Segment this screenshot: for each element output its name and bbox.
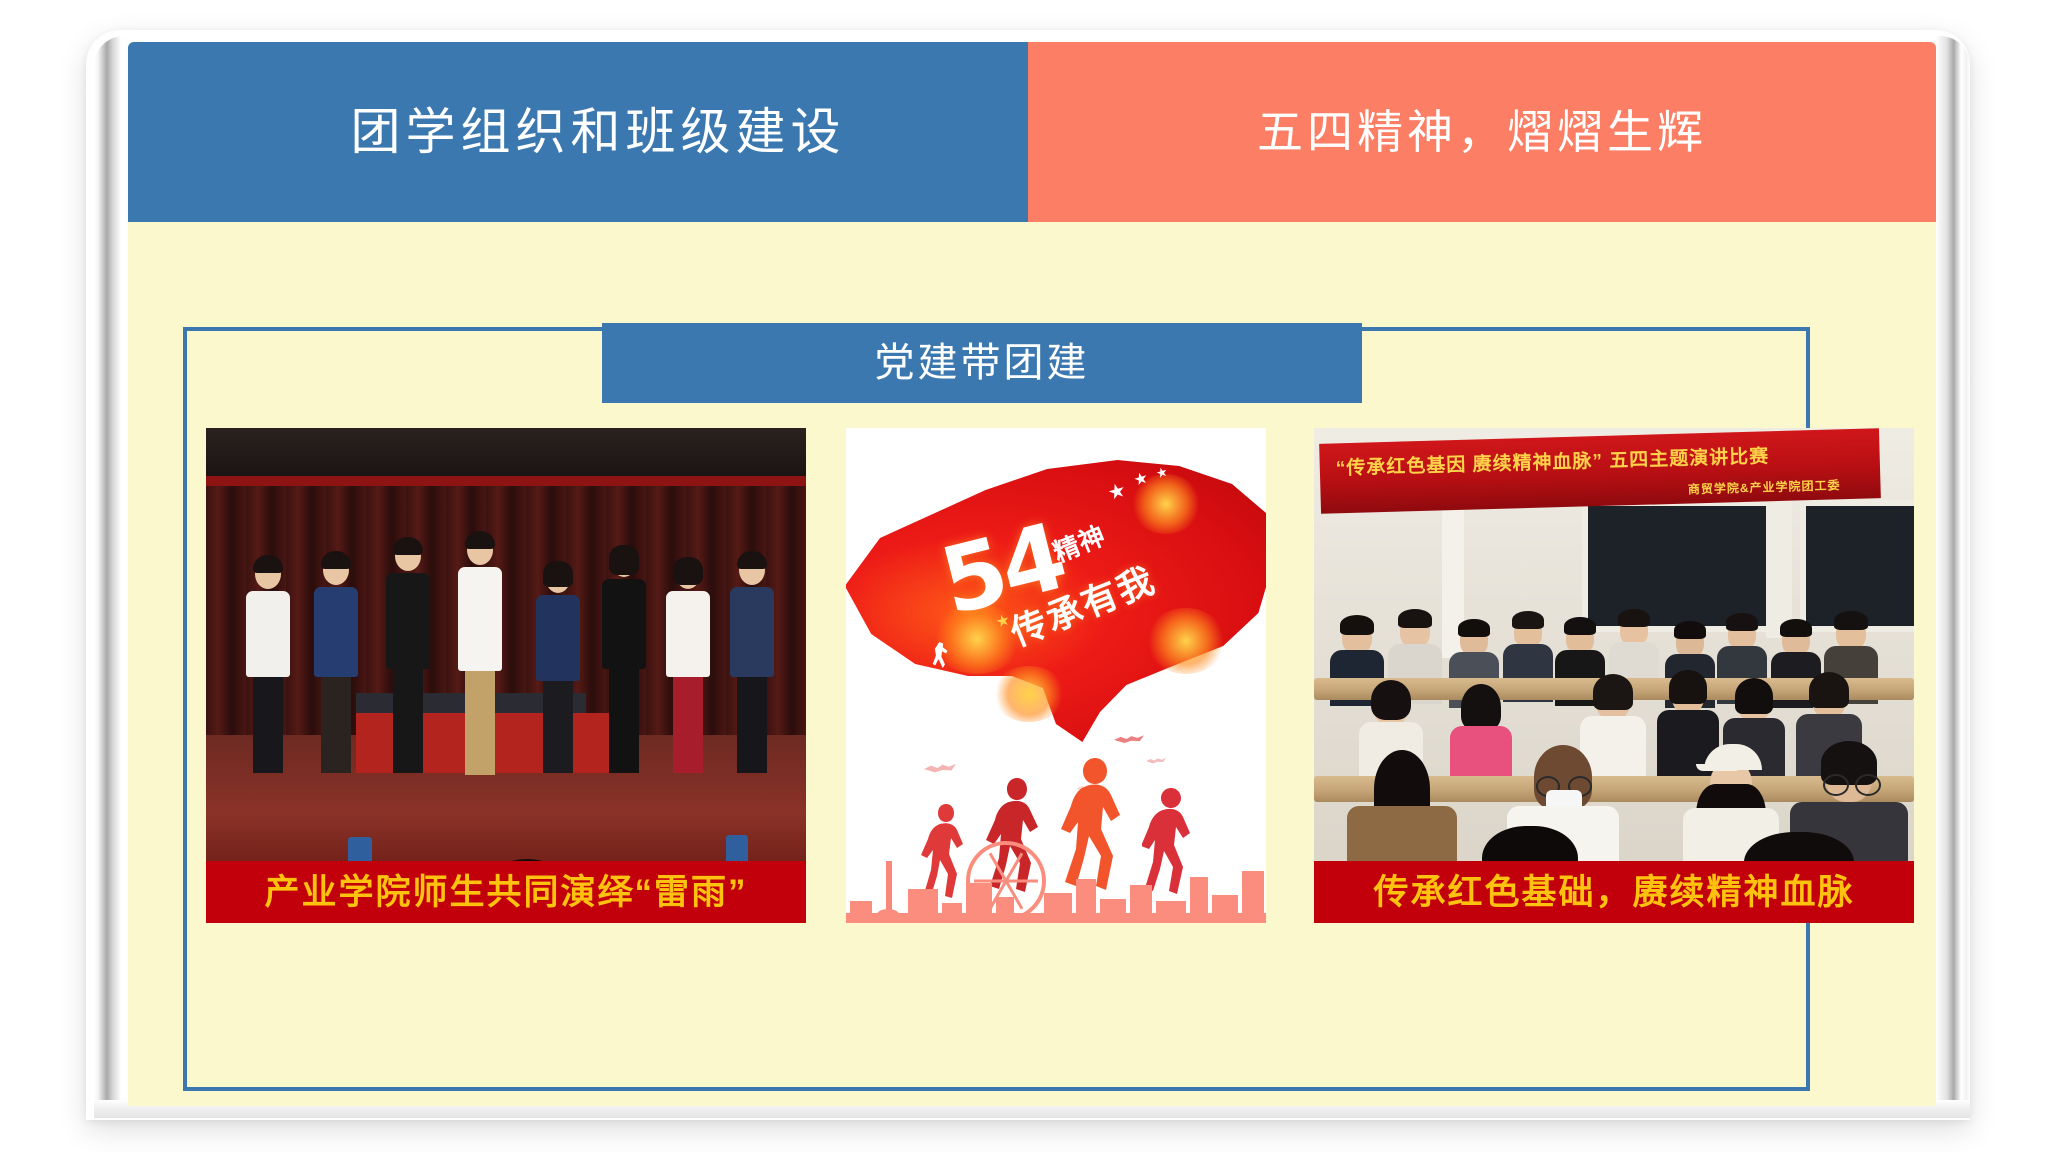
photo-caption-text: 传承红色基础，赓续精神血脉 xyxy=(1373,875,1854,910)
photo-audience: “传承红色基因 赓续精神血脉” 五四主题演讲比赛 商贸学院&产业学院团工委 xyxy=(1314,428,1914,923)
header-left-blue: 团学组织和班级建设 xyxy=(128,42,1028,222)
photo-caption-stage-play: 产业学院师生共同演绎“雷雨” xyxy=(206,861,806,923)
page-title-right: 五四精神，熠熠生辉 xyxy=(1257,109,1707,155)
photo-card-stage-play[interactable]: 产业学院师生共同演绎“雷雨” xyxy=(206,428,806,923)
photo-caption-audience: 传承红色基础，赓续精神血脉 xyxy=(1314,861,1914,923)
section-banner-label: 党建带团建 xyxy=(875,343,1090,383)
photo-caption-text: 产业学院师生共同演绎“雷雨” xyxy=(264,875,747,910)
hall-banner-line1: “传承红色基因 赓续精神血脉” 五四主题演讲比赛 xyxy=(1335,441,1769,480)
photo-card-audience[interactable]: “传承红色基因 赓续精神血脉” 五四主题演讲比赛 商贸学院&产业学院团工委 xyxy=(1314,428,1914,923)
page-title-left: 团学组织和班级建设 xyxy=(351,107,846,157)
city-skyline xyxy=(846,845,1266,923)
header-right-coral: 五四精神，熠熠生辉 xyxy=(1028,42,1936,222)
section-banner: 党建带团建 xyxy=(602,323,1362,403)
photo-row: 产业学院师生共同演绎“雷雨” ★ ★ ★ ★ xyxy=(128,428,1936,988)
slide-canvas: 团学组织和班级建设 五四精神，熠熠生辉 党建带团建 xyxy=(128,42,1936,1106)
hall-banner-line2: 商贸学院&产业学院团工委 xyxy=(1688,476,1841,497)
slide-page: 团学组织和班级建设 五四精神，熠熠生辉 党建带团建 xyxy=(0,0,2048,1152)
slide-header-row: 团学组织和班级建设 五四精神，熠熠生辉 xyxy=(128,42,1936,222)
slide-bevel-left xyxy=(94,36,128,1116)
photo-card-54-poster[interactable]: ★ ★ ★ ★ 54 精神 传承有我 xyxy=(846,428,1266,923)
photo-54-poster: ★ ★ ★ ★ 54 精神 传承有我 xyxy=(846,428,1266,923)
photo-stage-play: 产业学院师生共同演绎“雷雨” xyxy=(206,428,806,923)
slide-bevel-right xyxy=(1936,36,1970,1116)
